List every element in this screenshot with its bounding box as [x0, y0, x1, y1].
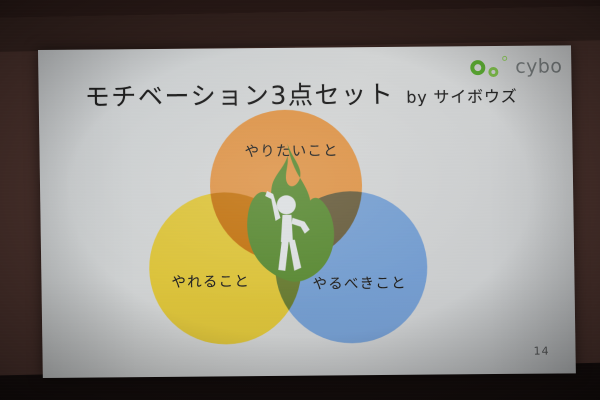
cybozu-logo-text: cybo	[515, 55, 562, 77]
projected-slide-surface: cybo モチベーション3点セット by サイボウズ やりたいこと やれること …	[38, 45, 576, 378]
slide-page-number: 14	[533, 345, 549, 358]
slide-canvas: cybo モチベーション3点セット by サイボウズ やりたいこと やれること …	[38, 45, 576, 378]
slide-title-row: モチベーション3点セット by サイボウズ	[84, 74, 517, 114]
photo-scene: cybo モチベーション3点セット by サイボウズ やりたいこと やれること …	[0, 0, 600, 400]
flame-with-person-icon	[231, 141, 345, 288]
venn-diagram: やりたいこと やれること やるべきこと	[147, 108, 451, 361]
slide-title: モチベーション3点セット	[84, 75, 394, 114]
slide-title-attribution: by サイボウズ	[406, 83, 517, 108]
cybozu-ring-large-icon	[470, 60, 485, 75]
cybozu-ring-small-icon	[502, 56, 507, 61]
